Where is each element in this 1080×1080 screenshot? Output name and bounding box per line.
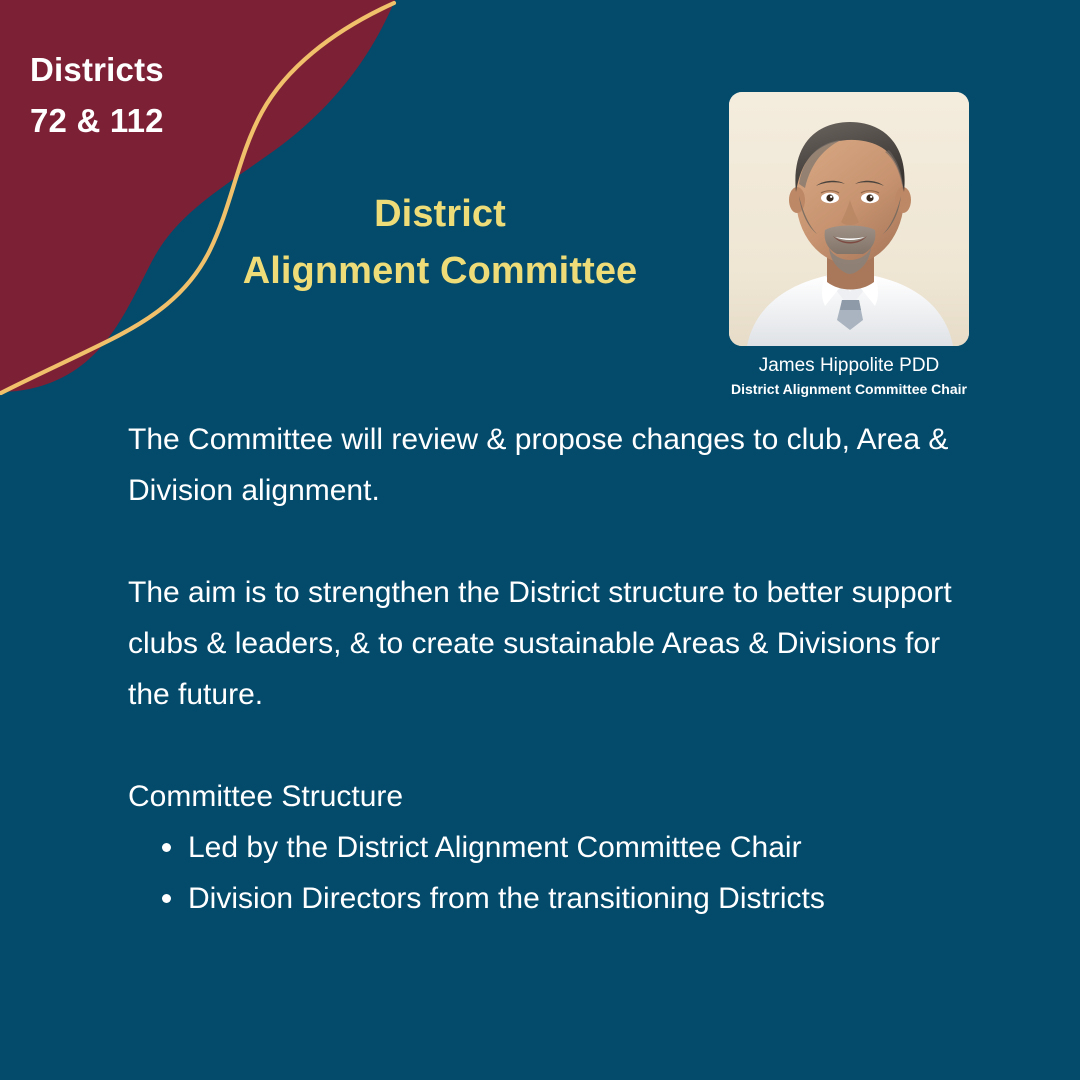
page-title: District Alignment Committee	[170, 186, 710, 300]
list-item: Led by the District Alignment Committee …	[128, 822, 1008, 873]
structure-heading: Committee Structure	[128, 771, 1008, 822]
list-item-label: Division Directors from the transitionin…	[188, 882, 825, 915]
bullet-icon	[162, 843, 171, 852]
bullet-icon	[162, 894, 171, 903]
list-item: Division Directors from the transitionin…	[128, 873, 1008, 924]
districts-badge-line-2: 72 & 112	[30, 95, 330, 146]
headshot-illustration	[729, 92, 969, 346]
portrait-block: James Hippolite PDD District Alignment C…	[729, 92, 969, 399]
poster-canvas: Districts 72 & 112 District Alignment Co…	[0, 0, 1080, 1080]
portrait-photo	[729, 92, 969, 346]
body-paragraph-2: The aim is to strengthen the District st…	[128, 567, 983, 720]
portrait-name: James Hippolite PDD	[729, 353, 969, 379]
list-item-label: Led by the District Alignment Committee …	[188, 831, 802, 864]
structure-list: Led by the District Alignment Committee …	[128, 822, 1008, 924]
districts-badge-line-1: Districts	[30, 44, 330, 95]
portrait-role: District Alignment Committee Chair	[729, 379, 969, 399]
page-title-line-2: Alignment Committee	[170, 243, 710, 300]
body-paragraph-1: The Committee will review & propose chan…	[128, 414, 983, 516]
page-title-line-1: District	[170, 186, 710, 243]
districts-badge: Districts 72 & 112	[30, 44, 330, 146]
body-copy: The Committee will review & propose chan…	[128, 414, 1008, 924]
